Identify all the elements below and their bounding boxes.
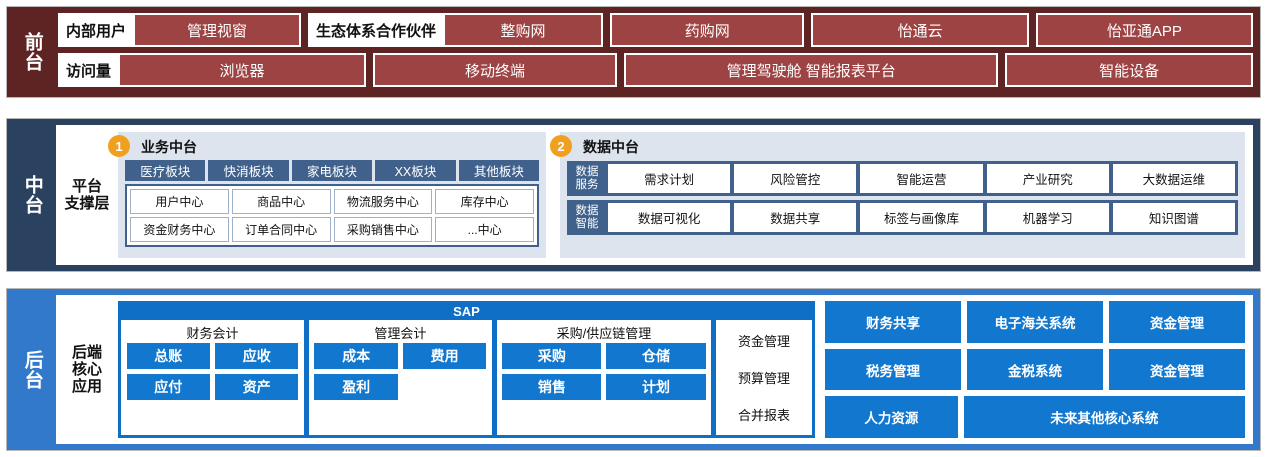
front-stage-side-label: 前台 (7, 7, 56, 97)
scm-sales[interactable]: 销售 (502, 374, 601, 400)
front-stage-body: 内部用户 管理视窗 生态体系合作伙伴 整购网 药购网 怡通云 怡亚通APP (56, 7, 1260, 97)
front-group-internal-user: 内部用户 管理视窗 (58, 13, 301, 47)
front-group-eco-partner: 生态体系合作伙伴 整购网 (308, 13, 603, 47)
platform-support-label-line2: 支撑层 (64, 195, 109, 212)
sap-title: SAP (121, 304, 812, 320)
module-title: 采购/供应链管理 (557, 324, 652, 343)
platform-support-label-line1: 平台 (64, 178, 109, 195)
sap-modules: 财务会计 总账 应收 应付 资产 管理会计 成本 (121, 320, 812, 435)
module-buttons: 成本 费用 盈利 (314, 343, 487, 400)
front-group-mobile: 移动终端 (373, 53, 617, 87)
business-panel-head: 业务中台 (141, 136, 539, 157)
front-group-dashboard: 管理驾驶舱 智能报表平台 (624, 53, 998, 87)
front-group-yitongyun: 怡通云 (811, 13, 1028, 47)
data-intelligence-band: 数据 智能 数据可视化 数据共享 标签与画像库 机器学习 知识图谱 (567, 200, 1238, 235)
sap-block: SAP 财务会计 总账 应收 应付 资产 管理会计 (118, 301, 815, 438)
center-user[interactable]: 用户中心 (130, 189, 229, 214)
data-service-label-line2: 服务 (576, 179, 599, 192)
ext-tax-management[interactable]: 税务管理 (825, 349, 961, 391)
front-item-management-cockpit[interactable]: 管理驾驶舱 智能报表平台 (626, 55, 996, 85)
treasury-fund-management[interactable]: 资金管理 (720, 324, 808, 356)
scm-planning[interactable]: 计划 (606, 374, 705, 400)
data-service-bigdata-ops[interactable]: 大数据运维 (1113, 164, 1235, 193)
data-service-label: 数据 服务 (570, 164, 604, 193)
segment-xx[interactable]: XX板块 (375, 160, 455, 181)
architecture-diagram: 前台 内部用户 管理视窗 生态体系合作伙伴 整购网 药购网 怡通云 (0, 0, 1267, 457)
ext-fund-management-2[interactable]: 资金管理 (1109, 349, 1245, 391)
data-knowledge-graph[interactable]: 知识图谱 (1113, 203, 1235, 232)
data-sharing[interactable]: 数据共享 (734, 203, 856, 232)
backend-core-label-line1: 后端 (72, 344, 102, 361)
front-group-smart-device: 智能设备 (1005, 53, 1253, 87)
external-row-1: 财务共享 电子海关系统 资金管理 (825, 301, 1245, 343)
ext-fund-management-1[interactable]: 资金管理 (1109, 301, 1245, 343)
data-panel-title: 数据中台 (583, 137, 639, 157)
treasury-budget-management[interactable]: 预算管理 (720, 361, 808, 393)
middle-platform-section: 中台 平台 支撑层 1 业务中台 医疗板块 快消板块 (6, 118, 1261, 272)
business-segment-row: 医疗板块 快消板块 家电板块 XX板块 其他板块 (125, 160, 539, 181)
module-buttons: 采购 仓储 销售 计划 (502, 343, 706, 400)
front-item-yaogouwang[interactable]: 药购网 (612, 15, 802, 45)
front-item-smart-device[interactable]: 智能设备 (1007, 55, 1251, 85)
business-centers-container: 用户中心 商品中心 物流服务中心 库存中心 资金财务中心 订单合同中心 采购销售… (125, 184, 539, 247)
data-tag-image-library[interactable]: 标签与画像库 (860, 203, 982, 232)
data-intelligence-label: 数据 智能 (570, 203, 604, 232)
front-stage-row-1: 内部用户 管理视窗 生态体系合作伙伴 整购网 药购网 怡通云 怡亚通APP (58, 13, 1253, 47)
scm-warehouse[interactable]: 仓储 (606, 343, 705, 369)
external-row-2: 税务管理 金税系统 资金管理 (825, 349, 1245, 391)
data-service-label-line1: 数据 (576, 166, 599, 179)
center-order-contract[interactable]: 订单合同中心 (232, 217, 331, 242)
front-group-yiyatong-app: 怡亚通APP (1036, 13, 1253, 47)
sap-module-financial-accounting: 财务会计 总账 应收 应付 资产 (121, 320, 304, 435)
data-service-industry-research[interactable]: 产业研究 (987, 164, 1109, 193)
fa-receivable[interactable]: 应收 (215, 343, 298, 369)
data-middle-platform-panel: 2 数据中台 数据 服务 需求计划 风险管控 智能运营 产业研究 大数据运维 (560, 132, 1245, 258)
middle-platform-body: 平台 支撑层 1 业务中台 医疗板块 快消板块 家电板块 XX板块 (56, 125, 1253, 265)
back-stage-body: 后端 核心 应用 SAP 财务会计 总账 应收 应 (56, 295, 1253, 444)
ext-human-resources[interactable]: 人力资源 (825, 396, 958, 438)
external-row-3: 人力资源 未来其他核心系统 (825, 396, 1245, 438)
back-stage-side-label: 后台 (7, 289, 56, 450)
segment-fmcg[interactable]: 快消板块 (208, 160, 288, 181)
backend-core-app-label: 后端 核心 应用 (56, 295, 118, 444)
sap-module-management-accounting: 管理会计 成本 费用 盈利 (309, 320, 492, 435)
business-center-row-2: 资金财务中心 订单合同中心 采购销售中心 ...中心 (130, 217, 534, 242)
ext-e-customs-system[interactable]: 电子海关系统 (967, 301, 1103, 343)
business-panel-title: 业务中台 (141, 137, 197, 157)
ext-finance-shared-service[interactable]: 财务共享 (825, 301, 961, 343)
module-title: 财务会计 (186, 324, 238, 343)
middle-platform-panels: 1 业务中台 医疗板块 快消板块 家电板块 XX板块 其他板块 用户中心 (118, 125, 1253, 265)
data-service-risk-control[interactable]: 风险管控 (734, 164, 856, 193)
fa-asset[interactable]: 资产 (215, 374, 298, 400)
center-purchase-sales[interactable]: 采购销售中心 (334, 217, 433, 242)
front-item-guanli-shichuang[interactable]: 管理视窗 (135, 15, 299, 45)
ext-golden-tax-system[interactable]: 金税系统 (967, 349, 1103, 391)
segment-appliance[interactable]: 家电板块 (292, 160, 372, 181)
center-finance[interactable]: 资金财务中心 (130, 217, 229, 242)
center-logistics[interactable]: 物流服务中心 (334, 189, 433, 214)
backend-core-label-line3: 应用 (72, 378, 102, 395)
business-center-row-1: 用户中心 商品中心 物流服务中心 库存中心 (130, 189, 534, 214)
middle-platform-side-label: 中台 (7, 119, 56, 271)
sap-treasury-column: 资金管理 预算管理 合并报表 (716, 320, 812, 435)
back-stage-section: 后台 后端 核心 应用 SAP 财务会计 总账 (6, 288, 1261, 451)
front-stage-section: 前台 内部用户 管理视窗 生态体系合作伙伴 整购网 药购网 怡通云 (6, 6, 1261, 98)
front-item-yiyatong-app[interactable]: 怡亚通APP (1038, 15, 1251, 45)
data-service-smart-ops[interactable]: 智能运营 (860, 164, 982, 193)
back-stage-columns: SAP 财务会计 总账 应收 应付 资产 管理会计 (118, 295, 1253, 444)
sap-module-procurement-supply-chain: 采购/供应链管理 采购 仓储 销售 计划 (497, 320, 711, 435)
front-item-zhenggouwang[interactable]: 整购网 (445, 15, 601, 45)
segment-medical[interactable]: 医疗板块 (125, 160, 205, 181)
front-item-mobile-terminal[interactable]: 移动终端 (375, 55, 615, 85)
ma-empty-slot (403, 374, 486, 400)
front-group-label: 访问量 (60, 55, 117, 85)
center-product[interactable]: 商品中心 (232, 189, 331, 214)
treasury-consolidated-report[interactable]: 合并报表 (720, 399, 808, 431)
front-item-browser[interactable]: 浏览器 (120, 55, 364, 85)
data-machine-learning[interactable]: 机器学习 (987, 203, 1109, 232)
data-service-demand-plan[interactable]: 需求计划 (608, 164, 730, 193)
external-systems-block: 财务共享 电子海关系统 资金管理 税务管理 金税系统 资金管理 人力资源 未来其… (825, 301, 1245, 438)
business-middle-platform-panel: 1 业务中台 医疗板块 快消板块 家电板块 XX板块 其他板块 用户中心 (118, 132, 546, 258)
panel-badge-2: 2 (550, 135, 572, 157)
scm-procurement[interactable]: 采购 (502, 343, 601, 369)
segment-other[interactable]: 其他板块 (459, 160, 539, 181)
ext-future-core-systems[interactable]: 未来其他核心系统 (964, 396, 1245, 438)
ma-cost[interactable]: 成本 (314, 343, 397, 369)
center-more[interactable]: ...中心 (435, 217, 534, 242)
front-stage-row-2: 访问量 浏览器 移动终端 管理驾驶舱 智能报表平台 智能设备 (58, 53, 1253, 87)
module-title: 管理会计 (374, 324, 426, 343)
fa-payable[interactable]: 应付 (127, 374, 210, 400)
front-group-label: 生态体系合作伙伴 (310, 15, 442, 45)
front-group-visits: 访问量 浏览器 (58, 53, 366, 87)
module-buttons: 总账 应收 应付 资产 (126, 343, 299, 400)
front-item-yitongyun[interactable]: 怡通云 (813, 15, 1026, 45)
data-service-band: 数据 服务 需求计划 风险管控 智能运营 产业研究 大数据运维 (567, 161, 1238, 196)
data-visualization[interactable]: 数据可视化 (608, 203, 730, 232)
data-intelligence-label-line1: 数据 (576, 205, 599, 218)
ma-profit[interactable]: 盈利 (314, 374, 397, 400)
backend-core-label-line2: 核心 (72, 361, 102, 378)
ma-expense[interactable]: 费用 (403, 343, 486, 369)
panel-badge-1: 1 (108, 135, 130, 157)
center-inventory[interactable]: 库存中心 (435, 189, 534, 214)
fa-general-ledger[interactable]: 总账 (127, 343, 210, 369)
data-intelligence-label-line2: 智能 (576, 218, 599, 231)
front-group-label: 内部用户 (60, 15, 132, 45)
front-group-yaogouwang: 药购网 (610, 13, 804, 47)
data-panel-head: 数据中台 (583, 136, 1238, 157)
